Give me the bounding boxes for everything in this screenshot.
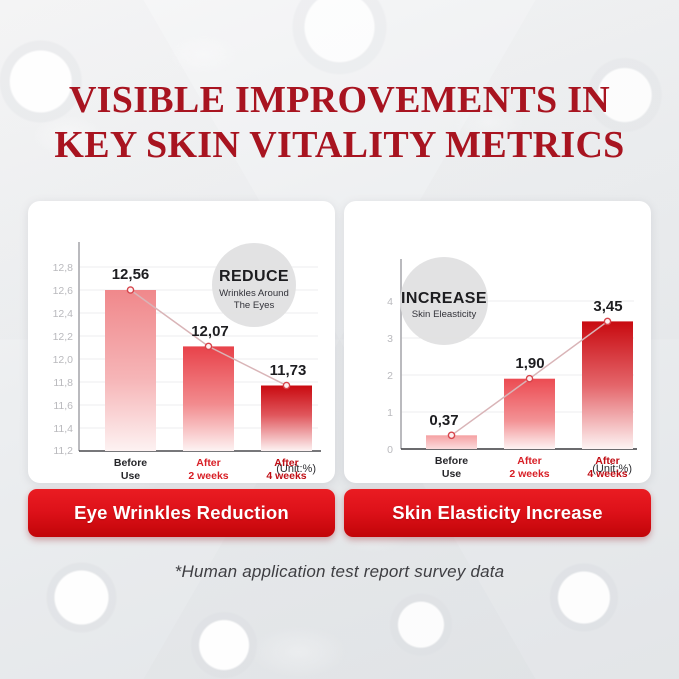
badge-reduce: REDUCE Wrinkles Around The Eyes bbox=[212, 243, 296, 327]
skin-elasticity-increase-button[interactable]: Skin Elasticity Increase bbox=[344, 489, 651, 537]
y-tick-label: 11,8 bbox=[53, 377, 73, 389]
y-tick-label: 4 bbox=[387, 296, 393, 308]
y-tick-label: 11,2 bbox=[53, 445, 73, 457]
poster-canvas: VISIBLE IMPROVEMENTS IN KEY SKIN VITALIT… bbox=[0, 0, 679, 679]
bar-after-4-weeks bbox=[582, 321, 633, 449]
value-label-after-4-weeks: 3,45 bbox=[593, 298, 622, 315]
y-tick-label: 1 bbox=[387, 407, 393, 419]
x-tick-label: Before bbox=[114, 457, 147, 469]
chart-card-skin-elasticity: 4 3 2 1 0 0,37 1,90 3,45 bbox=[344, 201, 651, 483]
badge-increase: INCREASE Skin Eleasticity bbox=[400, 257, 488, 345]
y-tick-label: 0 bbox=[387, 444, 393, 456]
x-tick-label: Before bbox=[435, 455, 468, 467]
page-title: VISIBLE IMPROVEMENTS IN KEY SKIN VITALIT… bbox=[0, 78, 679, 168]
chart-eye-wrinkles: 12,8 12,6 12,4 12,2 12,0 11,8 11,6 11,4 … bbox=[28, 201, 335, 483]
y-tick-label: 12,2 bbox=[53, 331, 74, 343]
x-tick-label: After bbox=[595, 455, 620, 467]
bar-before-use bbox=[105, 290, 156, 451]
x-tick-label: Use bbox=[121, 470, 140, 482]
badge-title: REDUCE bbox=[219, 268, 289, 285]
y-tick-label: 3 bbox=[387, 333, 393, 345]
x-tick-label: After bbox=[274, 457, 299, 469]
x-tick-label: After bbox=[517, 455, 542, 467]
x-tick-label: Use bbox=[442, 468, 461, 480]
page-title-line-2: KEY SKIN VITALITY METRICS bbox=[0, 123, 679, 168]
chart-skin-elasticity: 4 3 2 1 0 0,37 1,90 3,45 bbox=[344, 201, 651, 483]
bar-after-4-weeks bbox=[261, 386, 312, 452]
x-tick-label: After bbox=[196, 457, 221, 469]
x-tick-label: 4 weeks bbox=[266, 470, 306, 482]
x-tick-labels-left: Before Use After 2 weeks After 4 weeks bbox=[114, 457, 307, 482]
x-tick-labels-right: Before Use After 2 weeks After 4 weeks bbox=[435, 455, 628, 480]
x-tick-label: 4 weeks bbox=[587, 468, 627, 480]
y-tick-label: 12,0 bbox=[53, 354, 74, 366]
bar-after-2-weeks bbox=[183, 346, 234, 451]
value-label-after-4-weeks: 11,73 bbox=[270, 362, 307, 379]
y-tick-label: 12,4 bbox=[53, 308, 74, 320]
y-tick-labels-right: 4 3 2 1 0 bbox=[387, 296, 393, 456]
y-tick-label: 11,6 bbox=[53, 400, 73, 412]
chart-card-eye-wrinkles: 12,8 12,6 12,4 12,2 12,0 11,8 11,6 11,4 … bbox=[28, 201, 335, 483]
bar-after-2-weeks bbox=[504, 379, 555, 449]
y-tick-labels-left: 12,8 12,6 12,4 12,2 12,0 11,8 11,6 11,4 … bbox=[53, 262, 74, 457]
x-tick-label: 2 weeks bbox=[509, 468, 549, 480]
y-tick-label: 12,8 bbox=[53, 262, 74, 274]
y-tick-label: 2 bbox=[387, 370, 393, 382]
y-tick-label: 12,6 bbox=[53, 285, 74, 297]
eye-wrinkles-reduction-button[interactable]: Eye Wrinkles Reduction bbox=[28, 489, 335, 537]
value-label-after-2-weeks: 12,07 bbox=[191, 323, 229, 340]
y-tick-label: 11,4 bbox=[53, 423, 73, 435]
badge-title: INCREASE bbox=[401, 290, 487, 307]
footnote-disclaimer: *Human application test report survey da… bbox=[0, 562, 679, 582]
badge-subtitle-line-2: The Eyes bbox=[234, 300, 275, 311]
page-title-line-1: VISIBLE IMPROVEMENTS IN bbox=[0, 78, 679, 123]
value-label-before-use: 0,37 bbox=[429, 412, 458, 429]
value-label-before-use: 12,56 bbox=[112, 266, 150, 283]
badge-subtitle-line-1: Wrinkles Around bbox=[219, 288, 289, 299]
x-tick-label: 2 weeks bbox=[188, 470, 228, 482]
badge-subtitle-line-1: Skin Eleasticity bbox=[412, 309, 477, 320]
value-label-after-2-weeks: 1,90 bbox=[515, 355, 544, 372]
